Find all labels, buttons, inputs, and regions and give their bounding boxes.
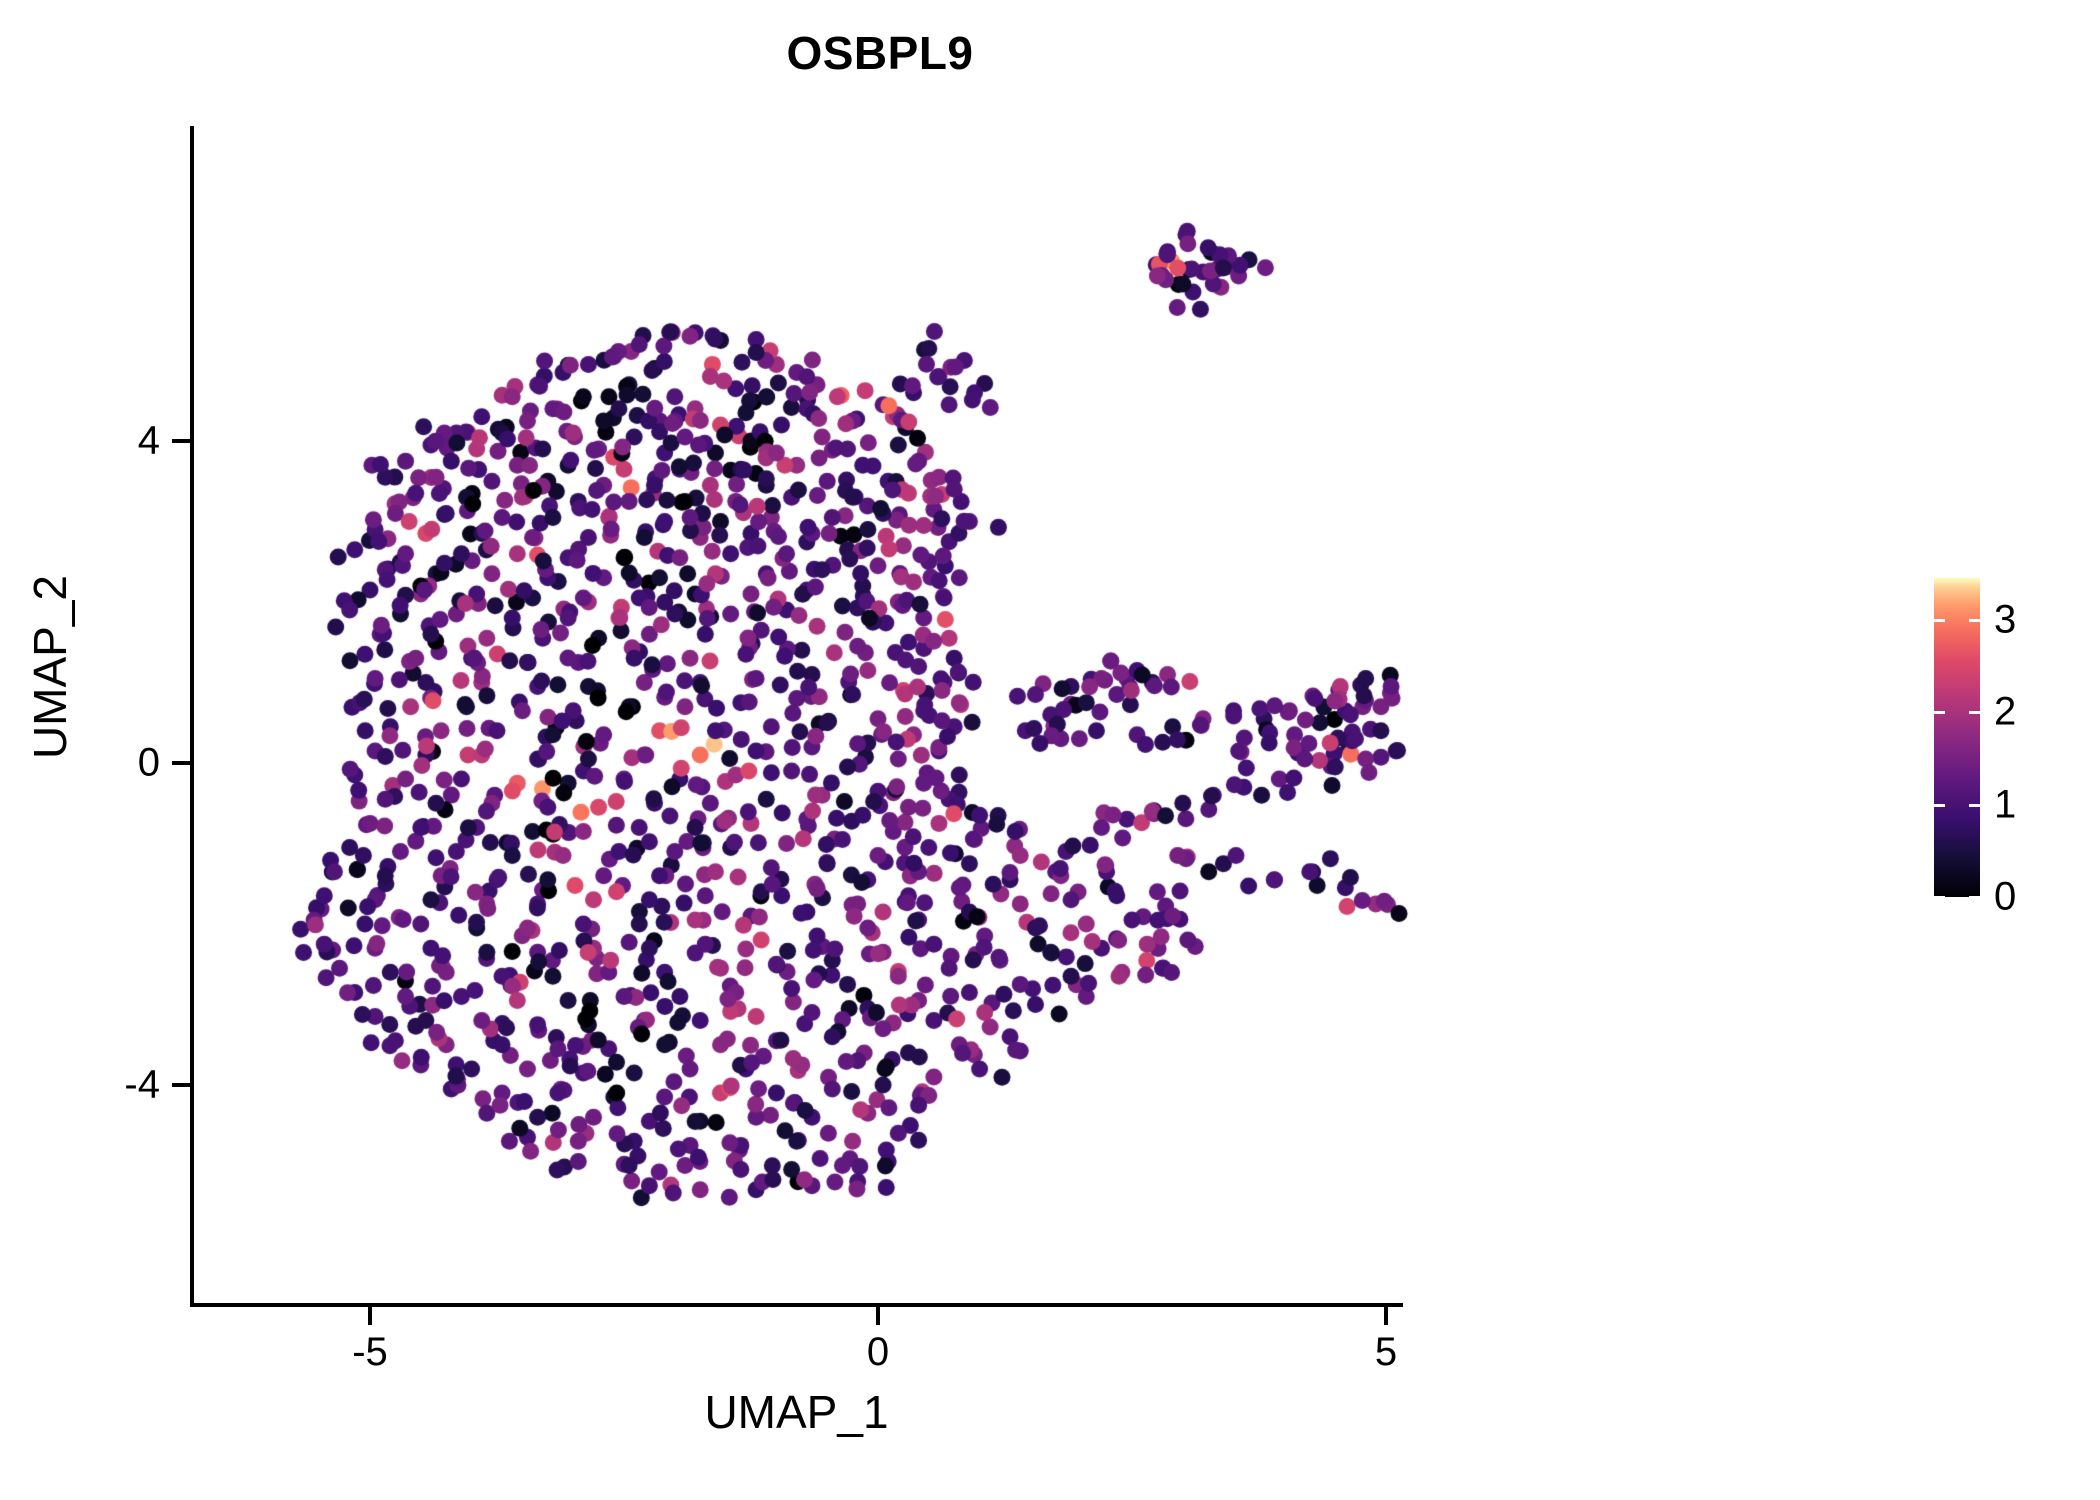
colorbar-tick-3 [1934,619,1945,622]
x-tick--5 [368,1307,372,1325]
x-axis-label: UMAP_1 [190,1385,1403,1439]
x-tick-label-0: 0 [818,1330,938,1375]
colorbar-tick-0 [1934,896,1945,899]
x-tick-5 [1384,1307,1388,1325]
colorbar-gradient [1934,578,1980,897]
colorbar-tick-0 [1969,896,1980,899]
colorbar-tick-3 [1969,619,1980,622]
colorbar-tick-label-0: 0 [1994,875,2016,920]
colorbar-tick-1 [1934,804,1945,807]
x-tick-0 [876,1307,880,1325]
y-tick-label--4: -4 [40,1063,160,1108]
umap-feature-plot: OSBPL9 40-4 -505 UMAP_2 UMAP_1 3210 [0,0,2100,1500]
x-tick-label--5: -5 [310,1330,430,1375]
colorbar-tick-1 [1969,804,1980,807]
scatter-layer [0,0,2100,1500]
y-tick--4 [172,1083,190,1087]
colorbar-tick-label-1: 1 [1994,782,2016,827]
colorbar-legend [1934,578,1980,897]
y-axis-line [190,126,194,1307]
y-tick-4 [172,439,190,443]
y-tick-0 [172,761,190,765]
colorbar-tick-label-2: 2 [1994,690,2016,735]
y-axis-label: UMAP_2 [23,317,77,1017]
colorbar-tick-2 [1934,711,1945,714]
colorbar-tick-label-3: 3 [1994,597,2016,642]
x-tick-label-5: 5 [1326,1330,1446,1375]
colorbar-tick-2 [1969,711,1980,714]
